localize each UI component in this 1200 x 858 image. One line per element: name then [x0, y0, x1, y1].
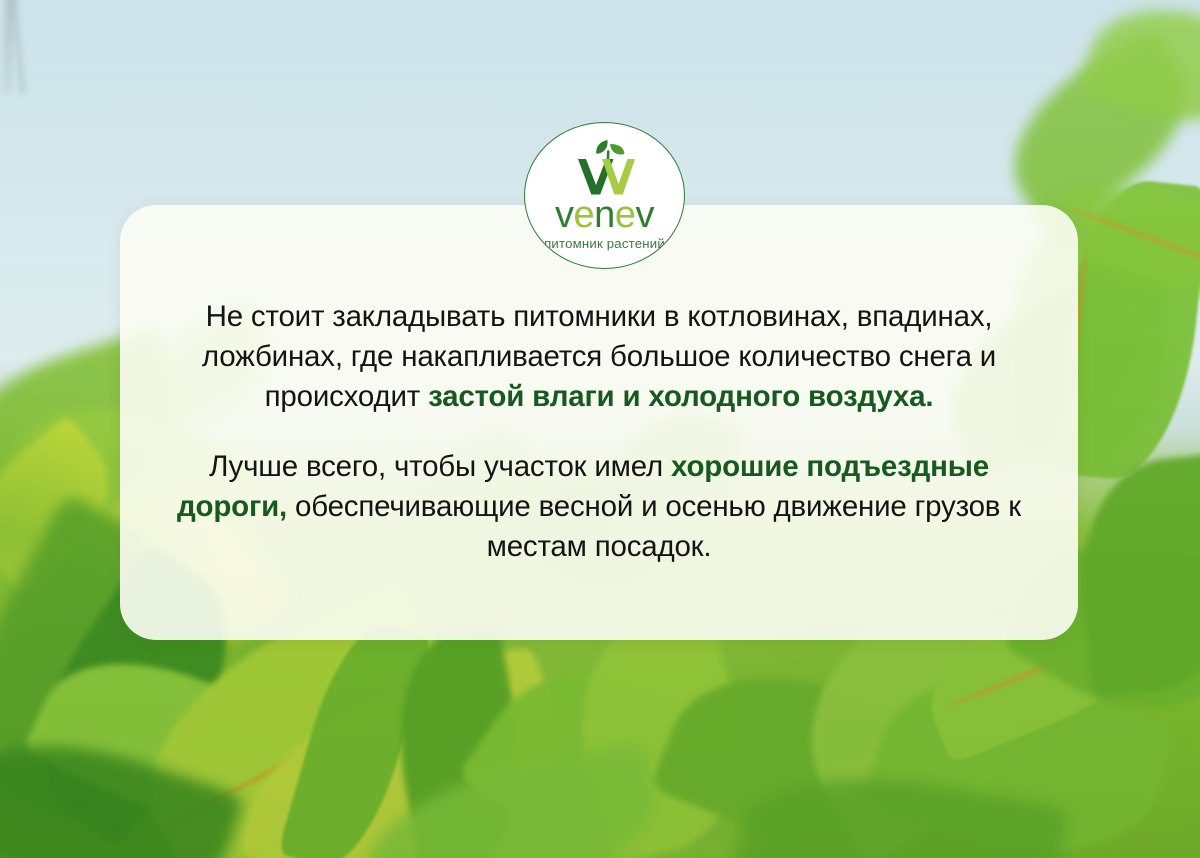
paragraph-1: Не стоит закладывать питомники в котлови…	[154, 297, 1044, 417]
card-content: Не стоит закладывать питомники в котлови…	[120, 297, 1078, 567]
paragraph-2-text-tail: обеспечивающие весной и осенью движение …	[287, 490, 1021, 563]
paragraph-2-text-lead: Лучше всего, чтобы участок имел	[209, 450, 671, 483]
paragraph-2: Лучше всего, чтобы участок имел хорошие …	[154, 447, 1044, 567]
poster-canvas: Не стоит закладывать питомники в котлови…	[0, 0, 1200, 858]
logo-letter-v2: v	[635, 194, 654, 236]
logo-letter-n: n	[594, 194, 615, 236]
text-card: Не стоит закладывать питомники в котлови…	[120, 205, 1078, 640]
logo-letter-e2: e	[615, 194, 636, 236]
logo-tagline: питомник растений	[525, 236, 684, 251]
venev-logo[interactable]: venev питомник растений	[524, 122, 685, 269]
logo-wordmark: venev	[525, 195, 684, 235]
paragraph-1-highlight: застой влаги и холодного воздуха.	[428, 380, 933, 413]
logo-letter-e1: e	[574, 194, 595, 236]
logo-letter-v1: v	[555, 194, 574, 236]
sprout-w-icon	[568, 137, 642, 199]
